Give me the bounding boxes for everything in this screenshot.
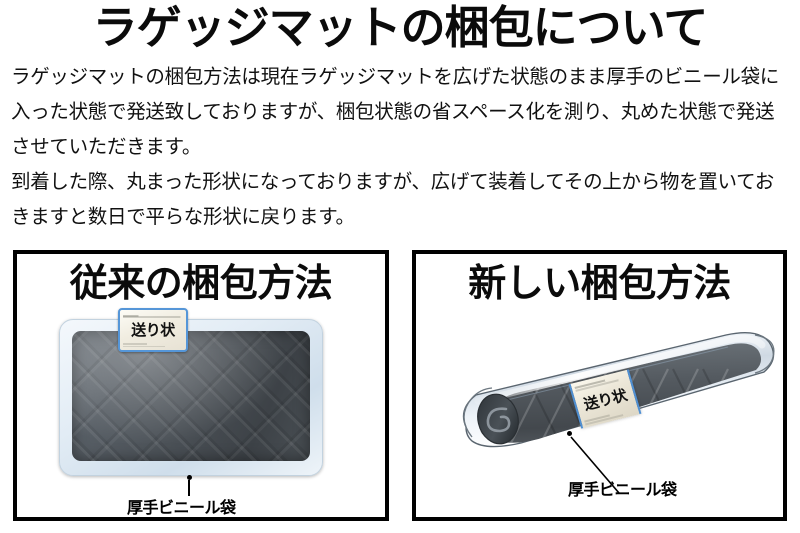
intro-paragraph-2: 到着した際、丸まった形状になっておりますが、広げて装着してその上から物を置いてお… [11, 165, 791, 235]
panel-old-packaging: 従来の梱包方法 送り状 厚手ビニール袋 [13, 250, 389, 521]
intro-paragraph-1: ラゲッジマットの梱包方法は現在ラゲッジマットを広げた状態のまま厚手のビニール袋に… [11, 60, 791, 165]
leader-line-new [428, 309, 778, 494]
rolled-tube-illustration: 送り状 [428, 309, 778, 494]
panel-old-title: 従来の梱包方法 [17, 262, 385, 306]
panel-new-title: 新しい梱包方法 [416, 262, 783, 306]
shipping-label-flat: 送り状 [118, 308, 188, 352]
caption-old-vinyl-bag: 厚手ビニール袋 [127, 494, 236, 518]
vinyl-bag-flat-illustration [59, 319, 323, 476]
panel-new-packaging: 新しい梱包方法 [412, 250, 787, 521]
shipping-label-text: 送り状 [120, 319, 186, 340]
mat-sheen [72, 331, 310, 461]
luggage-mat-flat [72, 331, 310, 461]
page-title: ラゲッジマットの梱包について [0, 2, 800, 54]
